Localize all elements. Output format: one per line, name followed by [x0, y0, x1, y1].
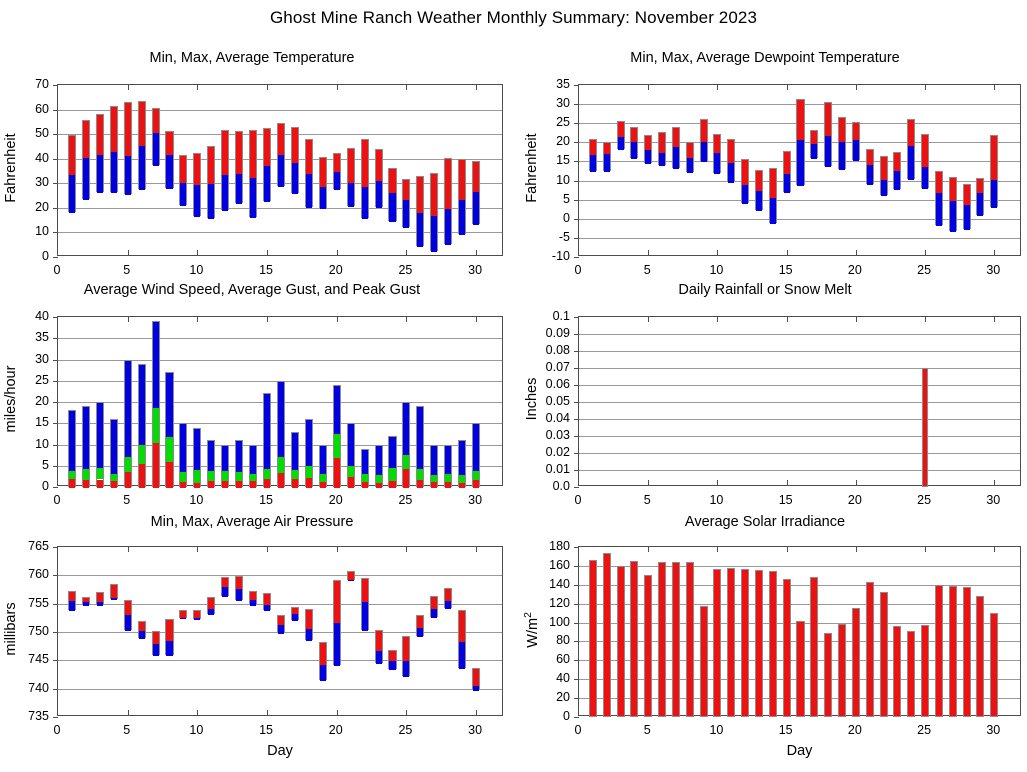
bar-segment-min — [166, 155, 172, 190]
bar-range — [824, 102, 832, 166]
bar-segment-avg-wind — [306, 478, 312, 488]
bar-value — [630, 561, 638, 717]
y-tick-label: 30 — [35, 352, 49, 366]
bar-range — [907, 119, 915, 179]
bar-value — [976, 596, 984, 717]
bar-value — [852, 608, 860, 717]
bar-value — [866, 582, 874, 717]
x-tick — [197, 547, 198, 552]
y-tick-label: 0.05 — [546, 394, 570, 408]
bar-stacked — [458, 440, 466, 487]
bar-segment-min — [278, 155, 284, 187]
plot-area-dewpoint — [578, 84, 1021, 256]
bar-segment-min — [222, 587, 228, 597]
bar-range — [755, 170, 763, 210]
bar-segment-min — [977, 193, 983, 216]
bar-stacked — [263, 393, 271, 487]
y-tick-label: 5 — [563, 192, 570, 206]
bar-segment-peak-gust — [222, 446, 228, 471]
bar-stacked — [347, 423, 355, 487]
x-tick-label: 20 — [848, 493, 862, 507]
bar-segment-avg-gust — [208, 471, 214, 481]
y-tick — [53, 445, 58, 446]
bar-segment-max — [431, 597, 437, 609]
x-tick — [994, 317, 995, 322]
bar-stacked — [402, 402, 410, 487]
bar-range — [249, 591, 257, 605]
bar-range — [277, 615, 285, 633]
chart-panel-temperature: Min, Max, Average Temperature01020304050… — [2, 50, 502, 280]
bar-segment-max — [922, 135, 928, 168]
bar-range — [96, 592, 104, 604]
bar-range — [207, 146, 215, 218]
bar-range — [402, 179, 410, 227]
bar-segment-avg-gust — [320, 474, 326, 482]
bar-segment-avg-wind — [69, 479, 75, 488]
bar-segment-max — [236, 132, 242, 174]
bar-segment-avg-gust — [180, 472, 186, 482]
x-tick-label: 25 — [917, 723, 931, 737]
x-tick — [787, 250, 788, 255]
x-tick — [856, 317, 857, 322]
bar-segment-peak-gust — [403, 403, 409, 455]
bar-range — [333, 580, 341, 664]
bar-value — [741, 569, 749, 717]
page-title: Ghost Mine Ranch Weather Monthly Summary… — [0, 8, 1027, 28]
x-tick — [267, 547, 268, 552]
x-tick-label: 10 — [189, 723, 203, 737]
x-tick — [648, 250, 649, 255]
bar-range — [291, 607, 299, 619]
bar-range — [179, 155, 187, 205]
bar-stacked — [375, 445, 383, 488]
bar-segment-max — [69, 592, 75, 602]
bar-range — [207, 597, 215, 614]
y-tick-label: 745 — [28, 652, 49, 666]
bar-value — [672, 562, 680, 717]
y-tick-label: 0.02 — [546, 445, 570, 459]
bar-segment-max — [153, 632, 159, 643]
gridline — [579, 351, 1020, 352]
bar-range — [277, 123, 285, 187]
bar-segment-min — [194, 618, 200, 620]
bar-segment-peak-gust — [83, 407, 89, 469]
x-tick-label: 5 — [123, 493, 130, 507]
bar-range — [124, 102, 132, 193]
y-tick — [574, 317, 579, 318]
chart-panel-wind: Average Wind Speed, Average Gust, and Pe… — [2, 282, 502, 512]
bar-segment-max — [153, 109, 159, 133]
x-tick-label: 15 — [779, 723, 793, 737]
bar-segment-avg-gust — [431, 475, 437, 482]
x-tick-label: 30 — [986, 263, 1000, 277]
bar-stacked — [96, 402, 104, 487]
bar-segment-max — [125, 601, 131, 615]
x-tick — [337, 710, 338, 715]
bar-segment-avg-wind — [180, 482, 186, 488]
bar-segment-max — [908, 120, 914, 146]
bar-stacked — [124, 360, 132, 488]
bar-segment-avg-wind — [278, 473, 284, 488]
x-tick — [994, 250, 995, 255]
x-tick-label: 10 — [189, 263, 203, 277]
bar-segment-min — [431, 216, 437, 252]
bar-stacked — [249, 445, 257, 488]
bar-range — [361, 578, 369, 630]
bar-stacked — [444, 445, 452, 488]
bar-range — [138, 101, 146, 189]
plot-area-temperature — [57, 84, 503, 256]
y-tick-label: 740 — [28, 681, 49, 695]
bar-segment-min — [376, 651, 382, 664]
bar-segment-max — [645, 136, 651, 150]
bar-value — [922, 368, 928, 487]
y-tick-label: 60 — [35, 102, 49, 116]
y-tick — [53, 159, 58, 160]
x-tick — [128, 710, 129, 715]
bar-segment-peak-gust — [473, 424, 479, 470]
x-tick — [337, 250, 338, 255]
bar-range — [179, 610, 187, 619]
bar-segment-avg-gust — [306, 466, 312, 478]
bar-segment-avg-gust — [264, 469, 270, 479]
bar-segment-min — [69, 601, 75, 611]
y-tick — [53, 208, 58, 209]
bar-segment-min — [473, 192, 479, 224]
bar-stacked — [152, 321, 160, 487]
bar-segment-max — [320, 643, 326, 665]
bar-segment-max — [756, 171, 762, 191]
y-tick — [53, 466, 58, 467]
bar-segment-min — [417, 213, 423, 247]
bar-range — [68, 135, 76, 212]
y-tick — [53, 423, 58, 424]
y-tick — [53, 487, 58, 488]
bar-range — [221, 577, 229, 596]
bar-segment-avg-wind — [292, 479, 298, 488]
bar-segment-max — [250, 131, 256, 178]
y-tick — [53, 402, 58, 403]
bar-segment-avg-gust — [236, 472, 242, 481]
y-tick — [574, 566, 579, 567]
bar-stacked — [291, 432, 299, 487]
bar-range — [193, 153, 201, 216]
x-tick-label: 25 — [917, 493, 931, 507]
bar-segment-avg-gust — [459, 475, 465, 484]
y-tick-label: 0 — [563, 211, 570, 225]
y-tick — [53, 575, 58, 576]
x-tick — [406, 250, 407, 255]
y-tick-label: 80 — [556, 633, 570, 647]
bar-segment-max — [673, 128, 679, 147]
gridline — [58, 689, 502, 690]
bar-segment-min — [139, 146, 145, 189]
y-axis-label-base: W/m — [525, 618, 541, 648]
y-axis-label-solar: W/m2 — [523, 570, 541, 690]
bar-segment-min — [922, 167, 928, 189]
bar-segment-avg-gust — [222, 471, 228, 481]
bar-segment-min — [222, 175, 228, 211]
bar-stacked — [361, 449, 369, 487]
bar-range — [949, 177, 957, 231]
bar-range — [644, 135, 652, 163]
x-tick — [267, 317, 268, 322]
bar-segment-peak-gust — [111, 420, 117, 474]
y-tick-label: 735 — [28, 709, 49, 723]
y-tick — [53, 85, 58, 86]
gridline — [579, 385, 1020, 386]
bar-range — [935, 171, 943, 225]
bar-range — [152, 108, 160, 166]
bar-value — [838, 624, 846, 717]
bar-segment-peak-gust — [250, 446, 256, 474]
bar-stacked — [305, 419, 313, 487]
bar-segment-min — [645, 150, 651, 164]
bar-range — [235, 576, 243, 599]
x-tick-label: 0 — [54, 263, 61, 277]
bar-value — [921, 625, 929, 717]
y-tick — [574, 368, 579, 369]
bar-value — [935, 585, 943, 717]
chart-panel-rainfall: Daily Rainfall or Snow Melt0.00.010.020.… — [515, 282, 1015, 512]
bar-segment-max — [687, 143, 693, 158]
bar-segment-avg-gust — [111, 474, 117, 481]
y-tick — [53, 183, 58, 184]
bar-segment-min — [362, 602, 368, 631]
bar-segment-max — [306, 610, 312, 629]
y-tick — [574, 679, 579, 680]
bar-range — [361, 139, 369, 218]
bar-range — [416, 615, 424, 636]
bar-segment-min — [111, 152, 117, 194]
bar-segment-min — [83, 158, 89, 200]
y-tick-label: 20 — [35, 200, 49, 214]
y-tick — [574, 717, 579, 718]
bar-segment-min — [264, 166, 270, 202]
bar-segment-max — [784, 152, 790, 174]
bar-segment-min — [362, 187, 368, 219]
bar-segment-avg-gust — [139, 445, 145, 464]
x-tick — [925, 85, 926, 90]
y-axis-label-rainfall: Inches — [524, 339, 540, 459]
plot-area-pressure — [57, 546, 503, 716]
bar-value — [824, 633, 832, 717]
y-tick-label: 120 — [549, 596, 570, 610]
bar-segment-max — [97, 593, 103, 602]
x-tick — [267, 710, 268, 715]
y-tick-label: 100 — [549, 615, 570, 629]
bar-range — [713, 134, 721, 173]
bar-segment-avg-wind — [403, 469, 409, 488]
bar-segment-peak-gust — [97, 403, 103, 468]
bar-segment-max — [604, 143, 610, 154]
bar-segment-avg-gust — [166, 437, 172, 461]
bar-value — [810, 577, 818, 717]
bar-segment-peak-gust — [348, 424, 354, 466]
bar-segment-max — [376, 150, 382, 181]
x-tick-label: 10 — [709, 263, 723, 277]
bar-range — [852, 122, 860, 160]
bar-value — [603, 553, 611, 717]
bar-segment-max — [445, 159, 451, 209]
y-tick — [574, 453, 579, 454]
bar-segment-peak-gust — [125, 361, 131, 457]
y-tick — [574, 351, 579, 352]
x-tick-label: 10 — [709, 493, 723, 507]
bar-segment-avg-wind — [473, 480, 479, 488]
bar-segment-min — [250, 178, 256, 218]
y-tick-label: 160 — [549, 558, 570, 572]
x-tick-label: 15 — [259, 493, 273, 507]
bar-value — [589, 560, 597, 717]
bar-segment-max — [376, 631, 382, 651]
bar-segment-max — [853, 123, 859, 141]
y-tick-label: 0.0 — [553, 479, 570, 493]
y-tick-label: 10 — [35, 224, 49, 238]
bar-segment-avg-gust — [417, 469, 423, 480]
bar-segment-min — [250, 600, 256, 606]
bar-segment-min — [292, 163, 298, 193]
x-tick — [717, 250, 718, 255]
bar-segment-min — [445, 209, 451, 246]
bar-segment-min — [618, 137, 624, 150]
bar-segment-avg-wind — [431, 482, 437, 488]
bar-range — [82, 120, 90, 200]
bar-segment-max — [111, 585, 117, 598]
bar-range — [893, 152, 901, 189]
gridline — [58, 338, 502, 339]
y-tick — [574, 660, 579, 661]
y-tick-label: 25 — [35, 373, 49, 387]
bar-segment-max — [166, 620, 172, 641]
bar-segment-min — [292, 614, 298, 620]
bar-segment-peak-gust — [459, 441, 465, 475]
bar-segment-min — [306, 629, 312, 641]
y-tick-label: 0.09 — [546, 326, 570, 340]
x-tick — [648, 85, 649, 90]
x-tick-label: 15 — [259, 723, 273, 737]
y-tick — [53, 110, 58, 111]
x-tick — [197, 85, 198, 90]
y-tick — [574, 436, 579, 437]
y-tick — [53, 338, 58, 339]
bar-segment-max — [770, 169, 776, 198]
bar-segment-min — [673, 147, 679, 169]
bar-range — [263, 593, 271, 610]
bar-stacked — [319, 445, 327, 488]
bar-range — [305, 609, 313, 640]
bar-segment-avg-gust — [376, 475, 382, 483]
bar-segment-avg-wind — [166, 462, 172, 488]
bar-segment-avg-wind — [236, 481, 242, 488]
y-tick — [574, 104, 579, 105]
bar-segment-max — [867, 150, 873, 165]
x-tick — [787, 547, 788, 552]
y-tick — [53, 660, 58, 661]
bar-segment-avg-wind — [83, 480, 89, 489]
bar-segment-max — [894, 153, 900, 171]
x-tick — [197, 250, 198, 255]
bar-segment-min — [853, 140, 859, 161]
bar-range — [658, 132, 666, 164]
bar-range — [96, 114, 104, 192]
bar-value — [658, 562, 666, 717]
x-tick — [994, 547, 995, 552]
bar-stacked — [388, 436, 396, 487]
bar-segment-avg-gust — [69, 471, 75, 480]
bar-range — [375, 149, 383, 207]
bar-range — [963, 184, 971, 229]
bar-range — [444, 588, 452, 608]
bar-segment-avg-gust — [83, 469, 89, 480]
bar-range — [727, 139, 735, 183]
y-tick — [574, 334, 579, 335]
bar-segment-max — [839, 118, 845, 142]
bar-range — [110, 106, 118, 192]
bar-segment-min — [839, 142, 845, 170]
chart-title-rainfall: Daily Rainfall or Snow Melt — [515, 282, 1015, 298]
bar-segment-min — [894, 171, 900, 190]
y-tick — [574, 123, 579, 124]
x-tick-label: 0 — [54, 723, 61, 737]
bar-range — [769, 168, 777, 224]
bar-segment-max — [977, 179, 983, 193]
bar-segment-min — [797, 140, 803, 186]
bar-segment-peak-gust — [292, 433, 298, 470]
bar-segment-avg-gust — [348, 466, 354, 477]
bar-value — [796, 621, 804, 717]
bar-value — [769, 571, 777, 717]
bar-range — [333, 153, 341, 189]
bar-segment-min — [459, 642, 465, 669]
bar-segment-min — [139, 631, 145, 640]
y-tick-label: 0 — [563, 709, 570, 723]
bar-segment-min — [701, 142, 707, 162]
bar-segment-max — [389, 651, 395, 662]
bar-segment-max — [278, 124, 284, 155]
bar-segment-peak-gust — [69, 411, 75, 471]
y-tick-label: 35 — [556, 77, 570, 91]
bar-segment-avg-gust — [125, 457, 131, 472]
bar-segment-max — [348, 572, 354, 580]
bar-value — [949, 586, 957, 717]
bar-segment-peak-gust — [376, 446, 382, 476]
bar-segment-min — [417, 628, 423, 637]
bar-segment-max — [950, 178, 956, 201]
bar-segment-min — [991, 180, 997, 207]
x-tick-label: 30 — [468, 723, 482, 737]
chart-title-solar: Average Solar Irradiance — [515, 514, 1015, 530]
bar-segment-max — [936, 172, 942, 193]
x-tick — [337, 317, 338, 322]
y-tick-label: 70 — [35, 77, 49, 91]
y-tick — [53, 604, 58, 605]
y-tick-label: 140 — [549, 577, 570, 591]
bar-segment-min — [153, 644, 159, 656]
y-tick — [574, 419, 579, 420]
bar-segment-max — [659, 133, 665, 153]
x-tick-label: 25 — [398, 263, 412, 277]
bar-range — [430, 596, 438, 617]
x-tick — [128, 85, 129, 90]
y-tick-label: 0.03 — [546, 428, 570, 442]
bar-segment-min — [590, 155, 596, 172]
bar-range — [138, 621, 146, 639]
y-tick-label: 40 — [556, 671, 570, 685]
bar-segment-min — [908, 146, 914, 180]
bar-segment-avg-gust — [194, 470, 200, 483]
gridline — [579, 368, 1020, 369]
